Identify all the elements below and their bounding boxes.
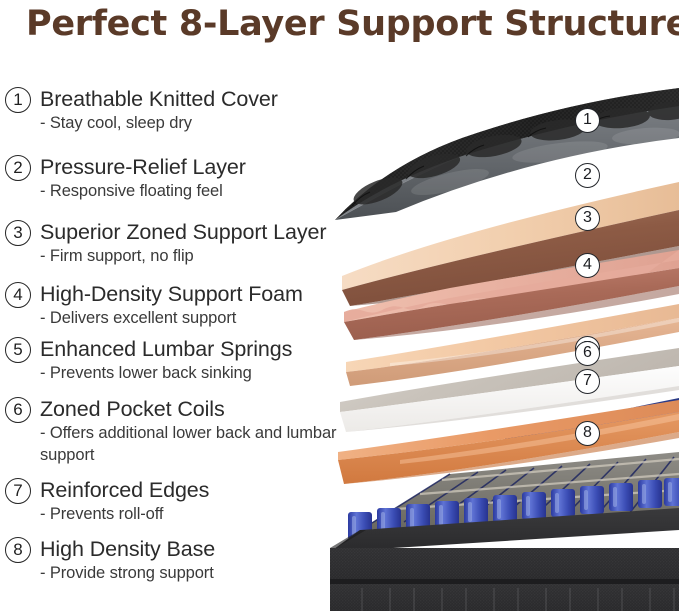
feature-number-badge: 4 (5, 282, 31, 308)
feature-title: High-Density Support Foam (40, 280, 303, 308)
feature-subtitle: - Delivers excellent support (40, 307, 350, 329)
feature-number-badge: 6 (5, 397, 31, 423)
feature-title: Breathable Knitted Cover (40, 85, 278, 113)
feature-subtitle: - Offers additional lower back and lumba… (40, 422, 350, 466)
feature-number-badge: 7 (5, 478, 31, 504)
feature-subtitle: - Prevents lower back sinking (40, 362, 350, 384)
layer-badge-7: 7 (575, 369, 600, 394)
layer-badge-2: 2 (575, 163, 600, 188)
feature-title: Pressure-Relief Layer (40, 153, 246, 181)
feature-subtitle: - Stay cool, sleep dry (40, 112, 350, 134)
feature-subtitle: - Firm support, no flip (40, 245, 350, 267)
feature-number-badge: 1 (5, 87, 31, 113)
mattress-layer-diagram (330, 60, 679, 611)
feature-list: 1Breathable Knitted Cover- Stay cool, sl… (0, 80, 368, 600)
layer-badge-6: 6 (575, 341, 600, 366)
feature-number-badge: 3 (5, 220, 31, 246)
layer-badge-4: 4 (575, 253, 600, 278)
page-title: Perfect 8-Layer Support Structure (26, 2, 666, 48)
layer-badge-3: 3 (575, 206, 600, 231)
feature-number-badge: 8 (5, 537, 31, 563)
feature-title: Zoned Pocket Coils (40, 395, 225, 423)
feature-title: High Density Base (40, 535, 215, 563)
feature-title: Superior Zoned Support Layer (40, 218, 326, 246)
feature-title: Reinforced Edges (40, 476, 209, 504)
feature-title: Enhanced Lumbar Springs (40, 335, 292, 363)
feature-subtitle: - Provide strong support (40, 562, 350, 584)
layer-badge-1: 1 (575, 108, 600, 133)
feature-number-badge: 2 (5, 155, 31, 181)
layer-badge-8: 8 (575, 421, 600, 446)
feature-subtitle: - Prevents roll-off (40, 503, 350, 525)
feature-number-badge: 5 (5, 337, 31, 363)
feature-subtitle: - Responsive floating feel (40, 180, 350, 202)
